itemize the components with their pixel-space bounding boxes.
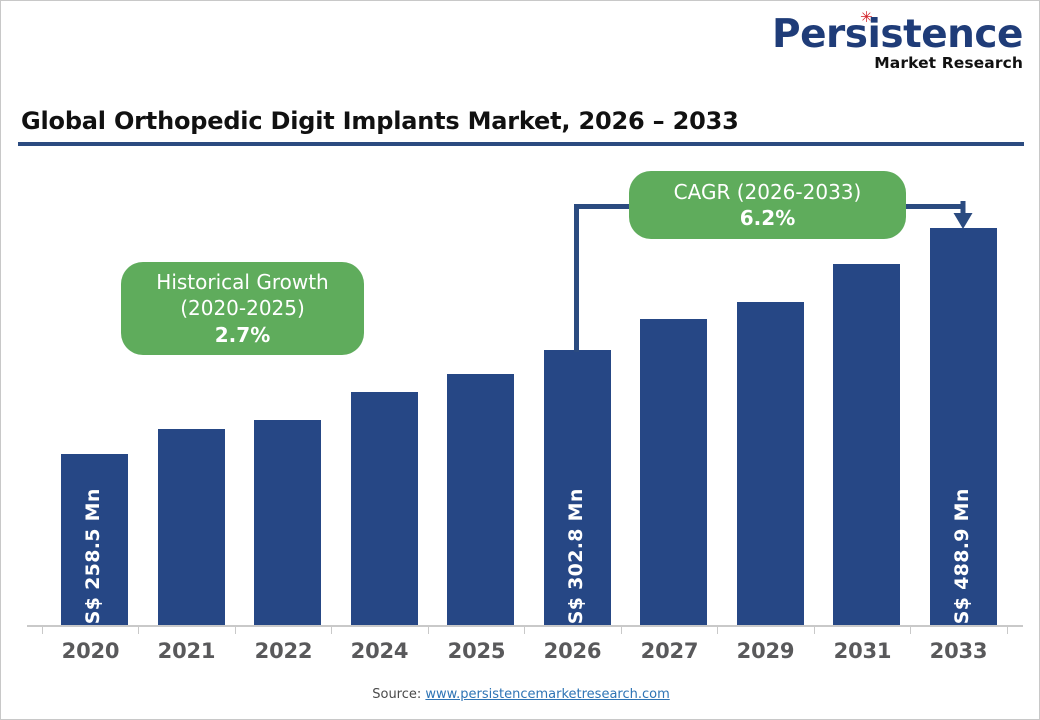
historical-growth-value: 2.7% xyxy=(215,322,270,348)
source-note: Source: www.persistencemarketresearch.co… xyxy=(1,687,1040,702)
bar-2029 xyxy=(737,302,804,625)
x-axis-label-2027: 2027 xyxy=(621,639,718,663)
historical-growth-line2: (2020-2025) xyxy=(180,295,305,321)
x-axis-label-2021: 2021 xyxy=(138,639,235,663)
x-axis-label-2033: 2033 xyxy=(910,639,1007,663)
x-axis-label-2024: 2024 xyxy=(331,639,428,663)
x-axis-label-2020: 2020 xyxy=(42,639,139,663)
cagr-callout: CAGR (2026-2033) 6.2% xyxy=(629,171,906,239)
bar-2031 xyxy=(833,264,900,625)
x-axis-label-2031: 2031 xyxy=(814,639,911,663)
bar-2027 xyxy=(640,319,707,625)
bar-2025 xyxy=(447,374,514,625)
cagr-connector-vertical xyxy=(574,204,579,352)
bar-chart-plot: US$ 258.5 Mn US$ 302.8 Mn US$ 488.9 Mn 2… xyxy=(1,1,1040,720)
bar-value-label-2020: US$ 258.5 Mn xyxy=(82,488,104,640)
axis-tick xyxy=(138,625,139,634)
axis-tick xyxy=(814,625,815,634)
axis-tick xyxy=(428,625,429,634)
x-axis-label-2022: 2022 xyxy=(235,639,332,663)
bar-2021 xyxy=(158,429,225,625)
axis-tick xyxy=(42,625,43,634)
bar-value-label-2026: US$ 302.8 Mn xyxy=(565,488,587,640)
cagr-value: 6.2% xyxy=(740,205,795,231)
x-axis-label-2025: 2025 xyxy=(428,639,525,663)
source-prefix: Source: xyxy=(372,687,425,702)
axis-tick xyxy=(621,625,622,634)
axis-tick xyxy=(1007,625,1008,634)
axis-tick xyxy=(524,625,525,634)
axis-tick xyxy=(717,625,718,634)
axis-tick xyxy=(910,625,911,634)
bar-value-label-2033: US$ 488.9 Mn xyxy=(951,488,973,640)
source-link[interactable]: www.persistencemarketresearch.com xyxy=(425,687,669,702)
cagr-line1: CAGR (2026-2033) xyxy=(674,179,862,205)
historical-growth-callout: Historical Growth (2020-2025) 2.7% xyxy=(121,262,364,355)
x-axis-line xyxy=(27,625,1023,627)
axis-tick xyxy=(331,625,332,634)
x-axis-label-2029: 2029 xyxy=(717,639,814,663)
bar-2022 xyxy=(254,420,321,625)
cagr-arrow-icon xyxy=(950,201,976,233)
x-axis-label-2026: 2026 xyxy=(524,639,621,663)
chart-infographic: Persistence ✳ Market Research Global Ort… xyxy=(0,0,1040,720)
bar-2024 xyxy=(351,392,418,625)
historical-growth-line1: Historical Growth xyxy=(156,269,328,295)
axis-tick xyxy=(235,625,236,634)
